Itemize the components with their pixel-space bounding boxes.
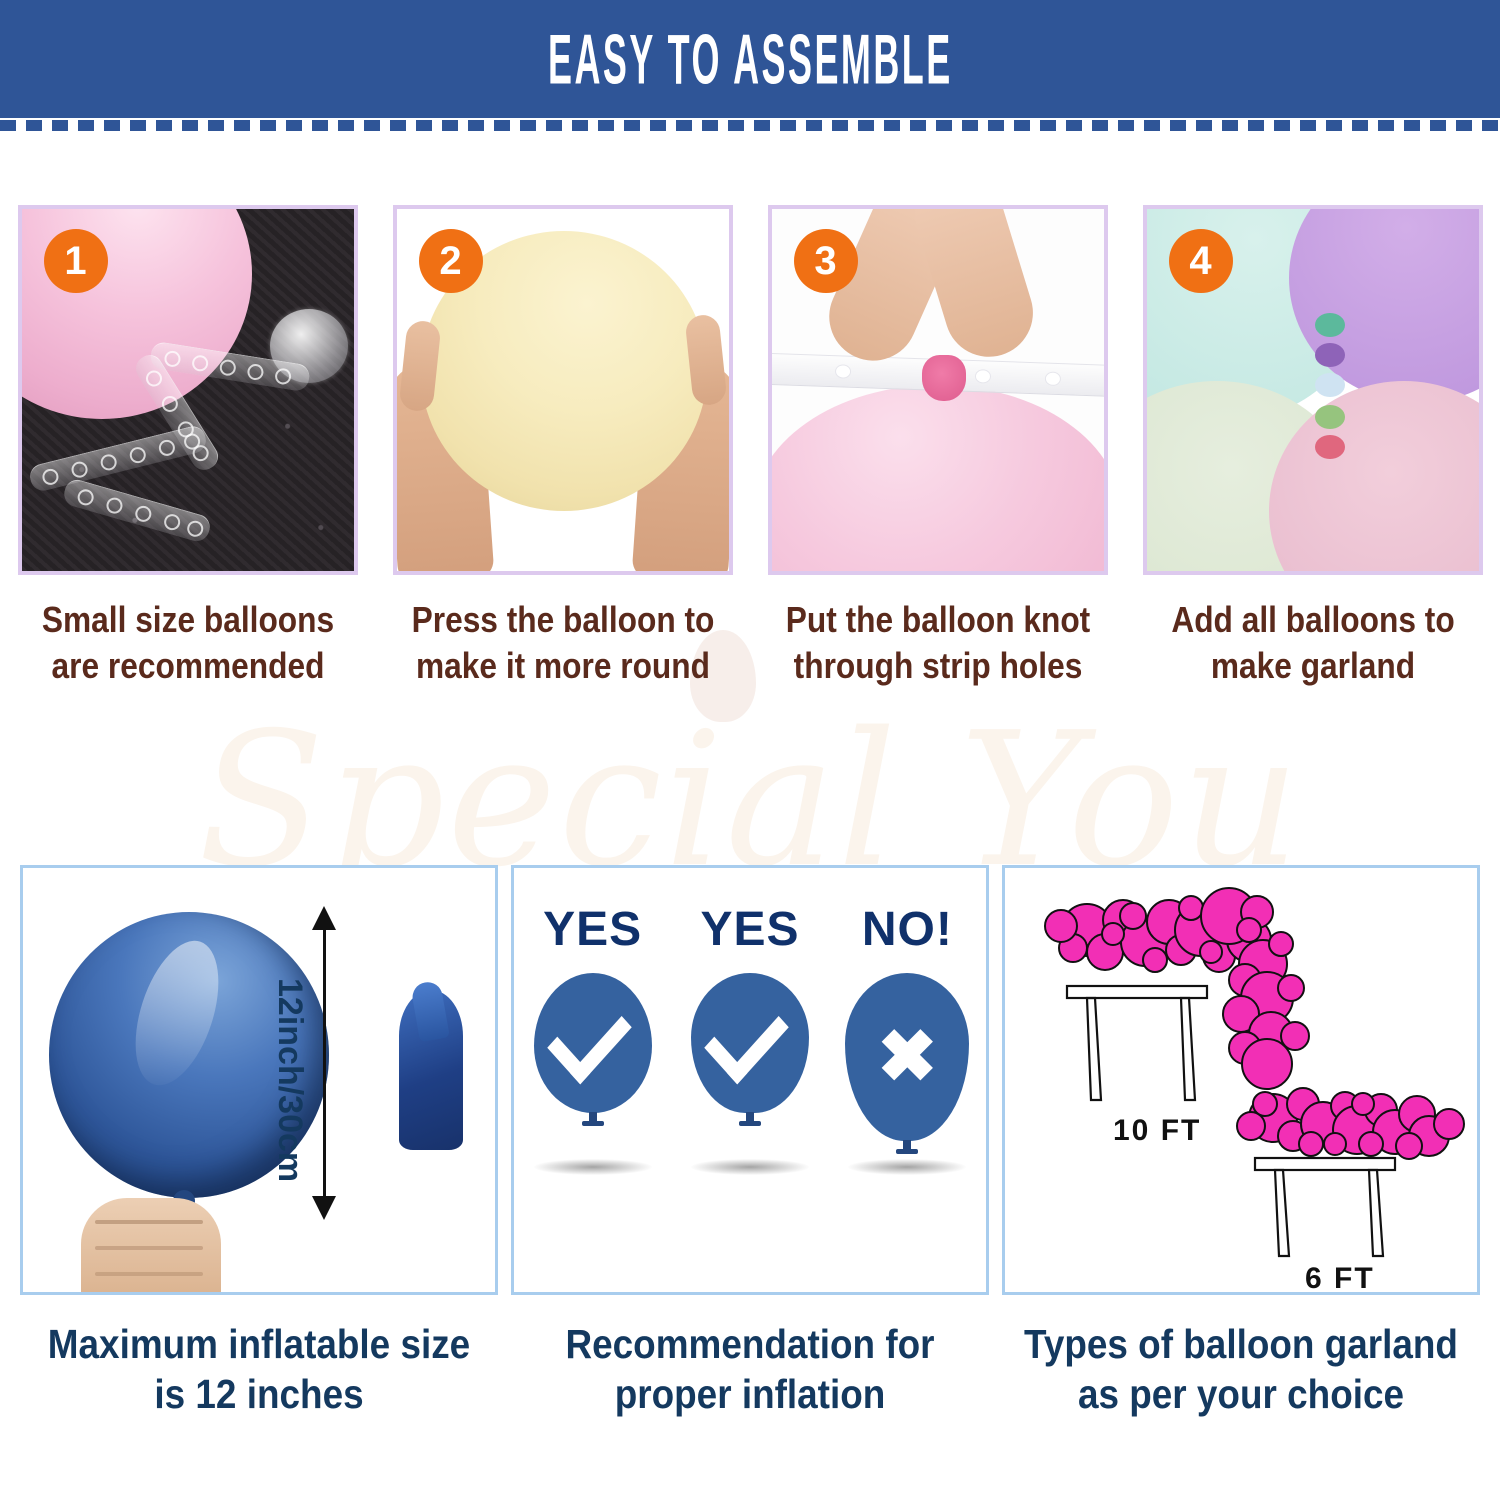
garland-size-label-10ft: 10 FT (1113, 1114, 1201, 1148)
hand-holding-balloon (81, 1198, 221, 1295)
step-caption-4: Add all balloons to make garland (1159, 597, 1467, 689)
inflation-option-3: NO! ✖ (837, 902, 977, 1175)
balloon-nozzle (589, 1112, 597, 1126)
step-caption-3: Put the balloon knot through strip holes (784, 597, 1092, 689)
step-card-2: 2 Press the balloon to make it more roun… (375, 205, 750, 695)
step-badge-3: 3 (794, 229, 858, 293)
step-card-1: 1 Small size balloons are recommended (0, 205, 375, 695)
balloon-knot (922, 355, 966, 401)
balloon-nozzle (903, 1140, 911, 1154)
step-photo-4: 4 (1143, 205, 1483, 575)
balloon-knot (1315, 405, 1345, 429)
panel-caption-inflation: Recommendation for proper inflation (525, 1319, 975, 1419)
step-card-3: 3 Put the balloon knot through strip hol… (750, 205, 1125, 695)
balloon-knot (1315, 435, 1345, 459)
garland-size-label-6ft: 6 FT (1305, 1262, 1375, 1295)
header-banner: Easy To Assemble (0, 0, 1500, 118)
dimension-arrow-icon (323, 928, 326, 1198)
dimension-label: 12inch/30cm (270, 978, 309, 1182)
dashed-divider (0, 120, 1500, 131)
balloon-nozzle (746, 1112, 754, 1126)
step-badge-4: 4 (1169, 229, 1233, 293)
assembly-steps-row: 1 Small size balloons are recommended 2 … (0, 205, 1500, 695)
inflation-recommendation-diagram: YES YES NO! (511, 865, 989, 1295)
table-6ft (1255, 1158, 1395, 1256)
pink-balloon (768, 385, 1108, 575)
info-panel-inflation: YES YES NO! (511, 865, 989, 1485)
step-photo-3: 3 (768, 205, 1108, 575)
balloon-check-icon (534, 973, 652, 1113)
check-icon (705, 990, 789, 1084)
info-panel-max-size: 12inch/30cm Maximum inflatable size is 1… (20, 865, 498, 1485)
max-size-diagram: 12inch/30cm (20, 865, 498, 1295)
check-icon (547, 990, 631, 1084)
balloon-check-icon (691, 973, 809, 1113)
step-photo-1: 1 (18, 205, 358, 575)
step-badge-2: 2 (419, 229, 483, 293)
balloon-shadow (534, 1159, 652, 1175)
step-photo-2: 2 (393, 205, 733, 575)
info-panels-row: 12inch/30cm Maximum inflatable size is 1… (0, 865, 1500, 1485)
panel-caption-garland-types: Types of balloon garland as per your cho… (1016, 1319, 1466, 1419)
table-10ft (1067, 986, 1207, 1100)
balloon-knot (1315, 313, 1345, 337)
balloon-cross-icon: ✖ (845, 973, 969, 1141)
info-panel-garland-types: 10 FT 6 FT Types of balloon garland as p… (1002, 865, 1480, 1485)
balloon-knot (1315, 373, 1345, 397)
balloon-knot (1315, 343, 1345, 367)
panel-caption-max-size: Maximum inflatable size is 12 inches (34, 1319, 484, 1419)
option-label-yes: YES (700, 902, 799, 957)
page-title: Easy To Assemble (548, 18, 953, 100)
inflation-option-1: YES (523, 902, 663, 1175)
option-label-yes: YES (543, 902, 642, 957)
step-caption-2: Press the balloon to make it more round (409, 597, 717, 689)
garland-illustration (1005, 868, 1477, 1292)
option-label-no: NO! (862, 902, 953, 957)
garland-types-diagram: 10 FT 6 FT (1002, 865, 1480, 1295)
balloon-shadow (848, 1159, 966, 1175)
garland-straight-6ft (1237, 1088, 1464, 1159)
garland-corner-10ft (1045, 888, 1309, 1089)
inflation-option-2: YES (680, 902, 820, 1175)
step-badge-1: 1 (44, 229, 108, 293)
deflated-balloon (399, 990, 463, 1150)
cross-icon: ✖ (877, 1021, 937, 1093)
balloon-shadow (691, 1159, 809, 1175)
step-card-4: 4 Add all balloons to make garland (1125, 205, 1500, 695)
step-caption-1: Small size balloons are recommended (34, 597, 342, 689)
